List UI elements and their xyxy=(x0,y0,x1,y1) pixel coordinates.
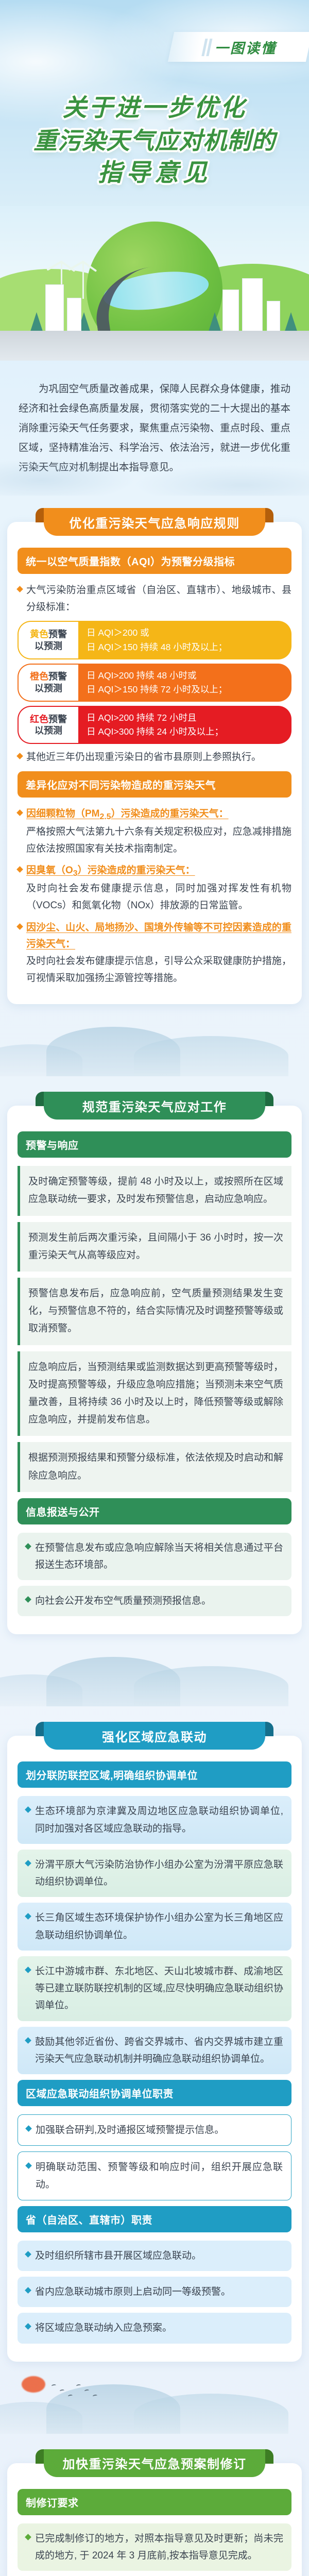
quote-block: 根据预测预报结果和预警分级标准，依法依规及时启动和解除应急响应。 xyxy=(18,1442,291,1492)
list-item: 汾渭平原大气污染防治协作小组办公室为汾渭平原应急联动组织协调单位。 xyxy=(18,1850,291,1897)
section-body-standardize-response-work: 预警与响应及时确定预警等级，提前 48 小时及以上，或按照所在区域应急联动统一要… xyxy=(7,1106,302,1634)
list-item-body: 因沙尘、山火、局地扬沙、国境外传输等不可控因素造成的重污染天气：及时向社会发布健… xyxy=(26,920,291,987)
list-item: 因臭氧（O3）污染造成的重污染天气：及时向社会发布健康提示信息，同时加强对挥发性… xyxy=(18,862,291,914)
section-tab-wrap: 规范重污染天气应对工作 xyxy=(7,1092,302,1120)
bullet-diamond-icon xyxy=(16,586,23,592)
mountain-icon xyxy=(134,2394,288,2434)
aqi-level-condition: 日 AQI＞200 或日 AQI＞150 持续 48 小时及以上； xyxy=(78,621,291,659)
bird-icon xyxy=(51,2384,57,2387)
aqi-level-sublabel: 以预测 xyxy=(35,725,62,737)
building-icon xyxy=(267,301,280,332)
list-item: 已完成制修订的地方，对照本指导意见及时更新；尚未完成的地方, 于 2024 年 … xyxy=(18,2523,291,2571)
scenery-decoration xyxy=(0,1009,309,1076)
aqi-level-condition: 日 AQI>200 持续 72 小时且日 AQI>300 持续 24 小时及以上… xyxy=(78,706,291,744)
bullet-diamond-icon xyxy=(25,2163,32,2170)
list-item-text: 鼓励其他邻近省份、跨省交界城市、省内交界城市建立重污染天气应急联动机制并明确应急… xyxy=(35,2033,283,2068)
read-in-one-picture-ribbon: 一图读懂 xyxy=(168,32,309,62)
aqi-level-row: 红色预警以预测日 AQI>200 持续 72 小时且日 AQI>300 持续 2… xyxy=(18,706,291,744)
aqi-level-label: 红色预警以预测 xyxy=(18,706,78,744)
aqi-level-name-rest: 预警 xyxy=(48,629,67,639)
section-title-regional-emergency-linkage: 强化区域应急联动 xyxy=(44,1722,265,1750)
bird-icon xyxy=(76,2384,81,2387)
quote-block: 预警信息发布后，应急响应前，空气质量预测结果发生变化，与预警信息不符的，结合实际… xyxy=(18,1278,291,1345)
building-icon xyxy=(67,298,81,332)
list-item-text: 在预警信息发布或应急响应解除当天将相关信息通过平台报送生态环境部。 xyxy=(35,1539,283,1574)
scenery-decoration xyxy=(0,2367,309,2434)
sections-container: 优化重污染天气应急响应规则统一以空气质量指数（AQI）为预警分级指标大气污染防治… xyxy=(0,508,309,2576)
aqi-condition-line-1: 日 AQI＞200 或 xyxy=(87,626,283,640)
list-item: 鼓励其他邻近省份、跨省交界城市、省内交界城市建立重污染天气应急联动机制并明确应急… xyxy=(18,2027,291,2075)
section-body-accelerate-plan-revision: 制修订要求已完成制修订的地方，对照本指导意见及时更新；尚未完成的地方, 于 20… xyxy=(7,2463,302,2576)
aqi-condition-line-2: 日 AQI>300 持续 24 小时及以上； xyxy=(87,725,283,739)
list-item-text: 明确联动范围、预警等级和响应时间，组织开展应急联动。 xyxy=(36,2159,283,2193)
aqi-level-name: 红色预警 xyxy=(30,714,67,725)
aqi-level-name: 黄色预警 xyxy=(30,629,67,640)
tree-icon xyxy=(284,312,298,333)
list-item: 省内应急联动城市原则上启动同一等级预警。 xyxy=(18,2277,291,2307)
aqi-level-row: 黄色预警以预测日 AQI＞200 或日 AQI＞150 持续 48 小时及以上； xyxy=(18,621,291,659)
subsection-header-regional-emergency-linkage-3: 省（自治区、直辖市）职责 xyxy=(18,2206,291,2232)
aqi-level-name-rest: 预警 xyxy=(48,671,67,682)
aqi-level-color-word: 黄色 xyxy=(30,629,48,639)
aqi-condition-line-1: 日 AQI>200 持续 72 小时且 xyxy=(87,711,283,725)
list-item-text: 加强联合研判,及时通报区域预警提示信息。 xyxy=(36,2122,224,2139)
intro-paragraph-block: 为巩固空气质量改善成果，保障人民群众身体健康，推动经济和社会绿色高质量发展，贯彻… xyxy=(0,361,309,493)
quote-block: 及时确定预警等级，提前 48 小时及以上，或按照所在区域应急联动统一要求，及时发… xyxy=(18,1166,291,1215)
tree-icon xyxy=(208,312,221,333)
bullet-diamond-icon xyxy=(25,2287,31,2294)
list-item-text: 将区域应急联动纳入应急预案。 xyxy=(35,2319,172,2336)
aqi-level-label: 黄色预警以预测 xyxy=(18,621,78,659)
section-tab-wrap: 加快重污染天气应急预案制修订 xyxy=(7,2449,302,2477)
tree-icon xyxy=(30,312,43,333)
chemical-subscript: 3 xyxy=(73,869,78,878)
list-item: 明确联动范围、预警等级和响应时间，组织开展应急联动。 xyxy=(18,2151,291,2200)
quote-block: 应急响应后，当预测结果或监测数据达到更高预警等级时，及时提高预警等级，升级应急响… xyxy=(18,1351,291,1436)
bullet-diamond-icon xyxy=(25,2534,31,2540)
page-title: 关于进一步优化 重污染天气应对机制的 指导意见 xyxy=(0,92,309,190)
list-item: 其他近三年仍出现重污染日的省市县原则上参照执行。 xyxy=(18,749,291,766)
list-item-text: 汾渭平原大气污染防治协作小组办公室为汾渭平原应急联动组织协调单位。 xyxy=(35,1856,283,1891)
list-item-text: 长三角区域生态环境保护协作小组办公室为长三角地区应急联动组织协调单位。 xyxy=(35,1909,283,1944)
list-item: 将区域应急联动纳入应急预案。 xyxy=(18,2313,291,2343)
list-item-text: 大气污染防治重点区域省（自治区、直辖市）、地级城市、县分级标准： xyxy=(26,582,291,616)
section-standardize-response-work: 规范重污染天气应对工作预警与响应及时确定预警等级，提前 48 小时及以上，或按照… xyxy=(7,1092,302,1634)
bullet-diamond-icon xyxy=(25,2125,32,2132)
list-item-text: 严格按照大气法第九十六条有关规定积极应对，应急减排措施应依法按照国家有关技术指南… xyxy=(26,824,291,857)
list-item-text: 及时组织所辖市县开展区域应急联动。 xyxy=(35,2247,201,2264)
list-item-body: 因臭氧（O3）污染造成的重污染天气：及时向社会发布健康提示信息，同时加强对挥发性… xyxy=(26,862,291,914)
aqi-condition-line-2: 日 AQI＞150 持续 48 小时及以上； xyxy=(87,640,283,654)
section-body-regional-emergency-linkage: 划分联防联控区域,明确组织协调单位生态环境部为京津冀及周边地区应急联动组织协调单… xyxy=(7,1736,302,2361)
aqi-level-row: 橙色预警以预测日 AQI>200 持续 48 小时或日 AQI＞150 持续 7… xyxy=(18,664,291,702)
chemical-subscript: 2.5 xyxy=(100,812,111,821)
hero-banner: 一图读懂 关于进一步优化 重污染天气应对机制的 指导意见 xyxy=(0,0,309,361)
list-item: 因细颗粒物（PM2.5）污染造成的重污染天气：严格按照大气法第九十六条有关规定积… xyxy=(18,806,291,857)
intro-paragraph: 为巩固空气质量改善成果，保障人民群众身体健康，推动经济和社会绿色高质量发展，贯彻… xyxy=(19,379,290,477)
aqi-level-name: 橙色预警 xyxy=(30,671,67,683)
list-item-text: 省内应急联动城市原则上启动同一等级预警。 xyxy=(35,2283,231,2300)
list-item: 加强联合研判,及时通报区域预警提示信息。 xyxy=(18,2114,291,2146)
aqi-level-name-rest: 预警 xyxy=(48,714,67,724)
bullet-diamond-icon xyxy=(25,2324,31,2330)
aqi-condition-line-2: 日 AQI＞150 持续 72 小时及以上； xyxy=(87,683,283,697)
list-item-text: 向社会公开发布空气质量预测预报信息。 xyxy=(35,1592,211,1609)
list-item: 长三角区域生态环境保护协作小组办公室为长三角地区应急联动组织协调单位。 xyxy=(18,1903,291,1951)
section-optimize-response-rules: 优化重污染天气应急响应规则统一以空气质量指数（AQI）为预警分级指标大气污染防治… xyxy=(7,508,302,1004)
subsection-header-standardize-response-work-1: 预警与响应 xyxy=(18,1131,291,1158)
list-item-text: 其他近三年仍出现重污染日的省市县原则上参照执行。 xyxy=(26,749,261,766)
bullet-diamond-icon xyxy=(16,866,23,873)
list-item-text: 生态环境部为京津冀及周边地区应急联动组织协调单位, 同时加强对各区域应急联动的指… xyxy=(35,1803,283,1837)
scenery-decoration xyxy=(0,1639,309,1706)
subsection-header-accelerate-plan-revision-1: 制修订要求 xyxy=(18,2489,291,2515)
list-item: 向社会公开发布空气质量预测预报信息。 xyxy=(18,1586,291,1616)
building-icon xyxy=(222,290,239,332)
bullet-diamond-icon xyxy=(16,809,23,816)
page-title-line-1: 关于进一步优化 xyxy=(0,92,309,125)
list-item-text: 长江中游城市群、东北地区、天山北坡城市群、成渝地区等已建立联防联控机制的区域,应… xyxy=(35,1963,283,2014)
building-icon xyxy=(45,284,64,332)
page-title-line-2: 重污染天气应对机制的 xyxy=(0,125,309,157)
mountain-icon xyxy=(134,1036,288,1076)
bullet-diamond-icon xyxy=(25,2251,31,2258)
subsection-header-standardize-response-work-2: 信息报送与公开 xyxy=(18,1498,291,1524)
list-item-text: 及时向社会发布健康提示信息，同时加强对挥发性有机物（VOCs）和氮氧化物（NOx… xyxy=(26,880,291,914)
list-item: 生态环境部为京津冀及周边地区应急联动组织协调单位, 同时加强对各区域应急联动的指… xyxy=(18,1796,291,1844)
bullet-diamond-icon xyxy=(25,2037,31,2044)
aqi-level-sublabel: 以预测 xyxy=(35,640,62,652)
mountain-icon xyxy=(134,1666,288,1706)
aqi-level-sublabel: 以预测 xyxy=(35,683,62,694)
section-accelerate-plan-revision: 加快重污染天气应急预案制修订制修订要求已完成制修订的地方，对照本指导意见及时更新… xyxy=(7,2449,302,2576)
section-tab-wrap: 强化区域应急联动 xyxy=(7,1722,302,1750)
eco-city-illustration xyxy=(0,206,309,361)
list-item-text: 及时向社会发布健康提示信息，引导公众采取健康防护措施，可视情采取加强扬尘源管控等… xyxy=(26,953,291,987)
subsection-header-regional-emergency-linkage-2: 区域应急联动组织协调单位职责 xyxy=(18,2080,291,2106)
list-item-body: 因细颗粒物（PM2.5）污染造成的重污染天气：严格按照大气法第九十六条有关规定积… xyxy=(26,806,291,857)
section-title-optimize-response-rules: 优化重污染天气应急响应规则 xyxy=(44,508,265,536)
section-title-accelerate-plan-revision: 加快重污染天气应急预案制修订 xyxy=(44,2449,265,2477)
bullet-diamond-icon xyxy=(25,1967,31,1973)
list-item: 因沙尘、山火、局地扬沙、国境外传输等不可控因素造成的重污染天气：及时向社会发布健… xyxy=(18,920,291,987)
page-title-line-3: 指导意见 xyxy=(0,157,309,190)
building-icon xyxy=(242,278,263,332)
aqi-level-color-word: 红色 xyxy=(30,714,48,724)
list-item-heading: 因沙尘、山火、局地扬沙、国境外传输等不可控因素造成的重污染天气： xyxy=(26,920,291,953)
list-item: 在预警信息发布或应急响应解除当天将相关信息通过平台报送生态环境部。 xyxy=(18,1533,291,1581)
section-title-standardize-response-work: 规范重污染天气应对工作 xyxy=(44,1092,265,1120)
bullet-diamond-icon xyxy=(25,1543,31,1550)
ribbon-label: 一图读懂 xyxy=(215,37,277,57)
list-item-heading: 因臭氧（O3）污染造成的重污染天气： xyxy=(26,862,291,880)
list-item: 长江中游城市群、东北地区、天山北坡城市群、成渝地区等已建立联防联控机制的区域,应… xyxy=(18,1956,291,2021)
aqi-level-label: 橙色预警以预测 xyxy=(18,664,78,702)
section-regional-emergency-linkage: 强化区域应急联动划分联防联控区域,明确组织协调单位生态环境部为京津冀及周边地区应… xyxy=(7,1722,302,2361)
subsection-header-optimize-response-rules-2: 差异化应对不同污染物造成的重污染天气 xyxy=(18,771,291,798)
bullet-diamond-icon xyxy=(25,1596,31,1603)
sun-icon xyxy=(22,2376,45,2393)
subsection-header-optimize-response-rules-1: 统一以空气质量指数（AQI）为预警分级指标 xyxy=(18,548,291,574)
aqi-level-color-word: 橙色 xyxy=(30,671,48,682)
aqi-level-condition: 日 AQI>200 持续 48 小时或日 AQI＞150 持续 72 小时及以上… xyxy=(78,664,291,702)
quote-block: 预测发生前后两次重污染，且间隔小于 36 小时时，按一次重污染天气从高等级应对。 xyxy=(18,1222,291,1272)
bullet-diamond-icon xyxy=(16,923,23,930)
bullet-diamond-icon xyxy=(25,1860,31,1867)
bullet-diamond-icon xyxy=(25,1807,31,1814)
bullet-diamond-icon xyxy=(25,1913,31,1920)
ribbon-slashes-icon xyxy=(203,38,211,56)
wind-turbine-icon xyxy=(82,263,84,299)
section-tab-wrap: 优化重污染天气应急响应规则 xyxy=(7,508,302,536)
aqi-condition-line-1: 日 AQI>200 持续 48 小时或 xyxy=(87,669,283,683)
list-item-heading: 因细颗粒物（PM2.5）污染造成的重污染天气： xyxy=(26,806,291,824)
section-body-optimize-response-rules: 统一以空气质量指数（AQI）为预警分级指标大气污染防治重点区域省（自治区、直辖市… xyxy=(7,522,302,1004)
list-item: 及时组织所辖市县开展区域应急联动。 xyxy=(18,2241,291,2271)
bullet-diamond-icon xyxy=(16,753,23,759)
list-item: 大气污染防治重点区域省（自治区、直辖市）、地级城市、县分级标准： xyxy=(18,582,291,616)
list-item-text: 已完成制修订的地方，对照本指导意见及时更新；尚未完成的地方, 于 2024 年 … xyxy=(35,2530,283,2565)
subsection-header-regional-emergency-linkage-1: 划分联防联控区域,明确组织协调单位 xyxy=(18,1761,291,1788)
